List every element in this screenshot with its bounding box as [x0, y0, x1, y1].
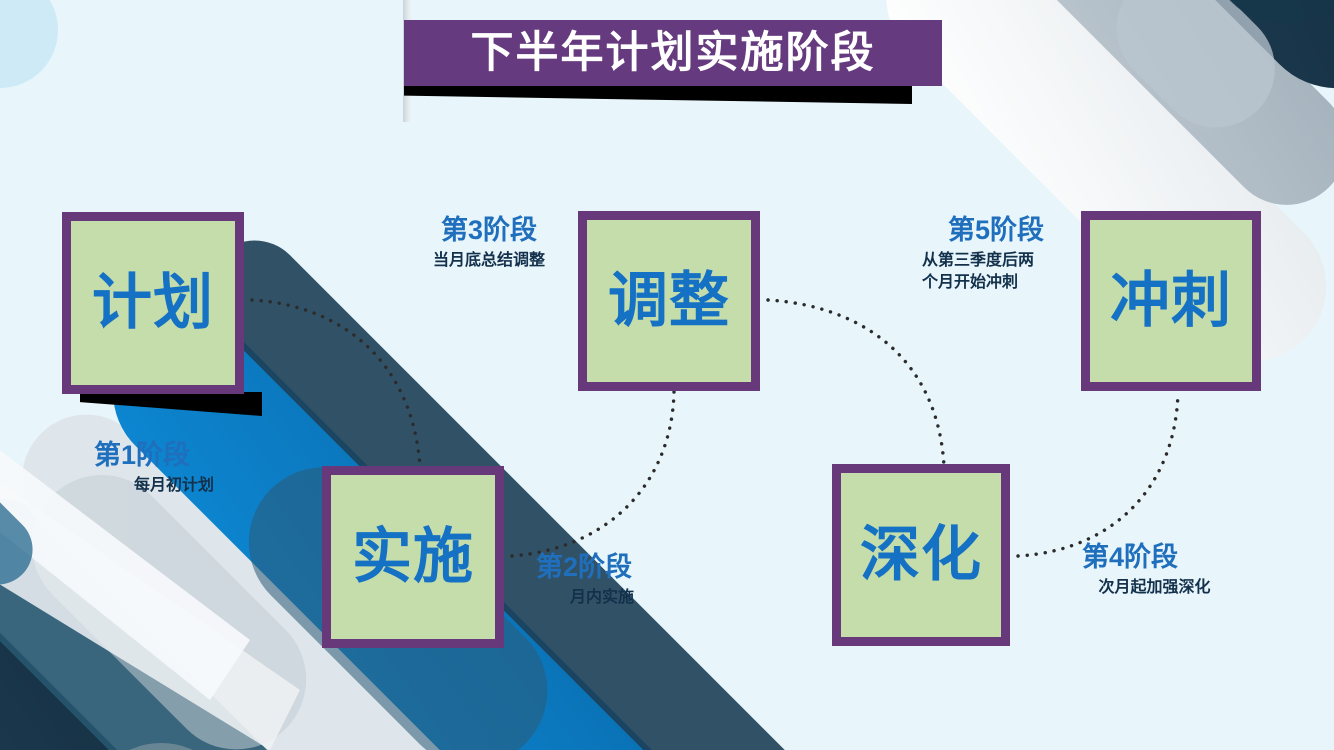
stage-3-box[interactable]: 调整 [578, 211, 760, 391]
stage-4-caption: 第4阶段 次月起加强深化 [1082, 542, 1302, 599]
slide-canvas: 下半年计划实施阶段 计划 第1阶段 每月初计划 实施 第2阶段 月内实施 调整 … [0, 0, 1334, 750]
stage-5-caption-title: 第5阶段 [922, 215, 1070, 246]
stage-4-box-fill: 深化 [841, 473, 1001, 637]
stage-3-word: 调整 [608, 271, 730, 331]
stage-2-caption-sub: 月内实施 [536, 587, 668, 609]
stage-5-caption-sub: 从第三季度后两 个月开始冲刺 [922, 250, 1074, 293]
stage-2-word: 实施 [352, 527, 474, 587]
slide-title-banner: 下半年计划实施阶段 [404, 20, 942, 86]
stage-1-word: 计划 [92, 273, 214, 333]
stage-4-word: 深化 [860, 525, 982, 585]
stage-2-caption: 第2阶段 月内实施 [536, 552, 756, 609]
stage-3-caption: 第3阶段 当月底总结调整 [413, 215, 583, 272]
stage-2-caption-title: 第2阶段 [536, 552, 756, 583]
stage-3-caption-sub: 当月底总结调整 [413, 250, 565, 272]
stage-2-box[interactable]: 实施 [322, 466, 504, 648]
stage-5-box[interactable]: 冲刺 [1081, 211, 1261, 391]
stage-1-box[interactable]: 计划 [62, 212, 244, 394]
stage-3-caption-title: 第3阶段 [413, 215, 565, 246]
stage-1-box-fill: 计划 [71, 221, 235, 385]
stage-4-caption-sub: 次月起加强深化 [1082, 577, 1227, 599]
stage-3-box-fill: 调整 [587, 220, 751, 382]
stage-1-box-shadow [80, 392, 262, 416]
stage-4-box[interactable]: 深化 [832, 464, 1010, 646]
page-title: 下半年计划实施阶段 [471, 32, 876, 75]
stage-1-caption: 第1阶段 每月初计划 [94, 440, 314, 497]
stage-1-caption-title: 第1阶段 [94, 440, 314, 471]
stage-4-caption-title: 第4阶段 [1082, 542, 1302, 573]
stage-2-box-fill: 实施 [331, 475, 495, 639]
stage-5-word: 冲刺 [1110, 271, 1232, 331]
stage-1-caption-sub: 每月初计划 [94, 475, 254, 497]
stage-5-caption: 第5阶段 从第三季度后两 个月开始冲刺 [922, 215, 1088, 293]
stage-5-box-fill: 冲刺 [1090, 220, 1252, 382]
